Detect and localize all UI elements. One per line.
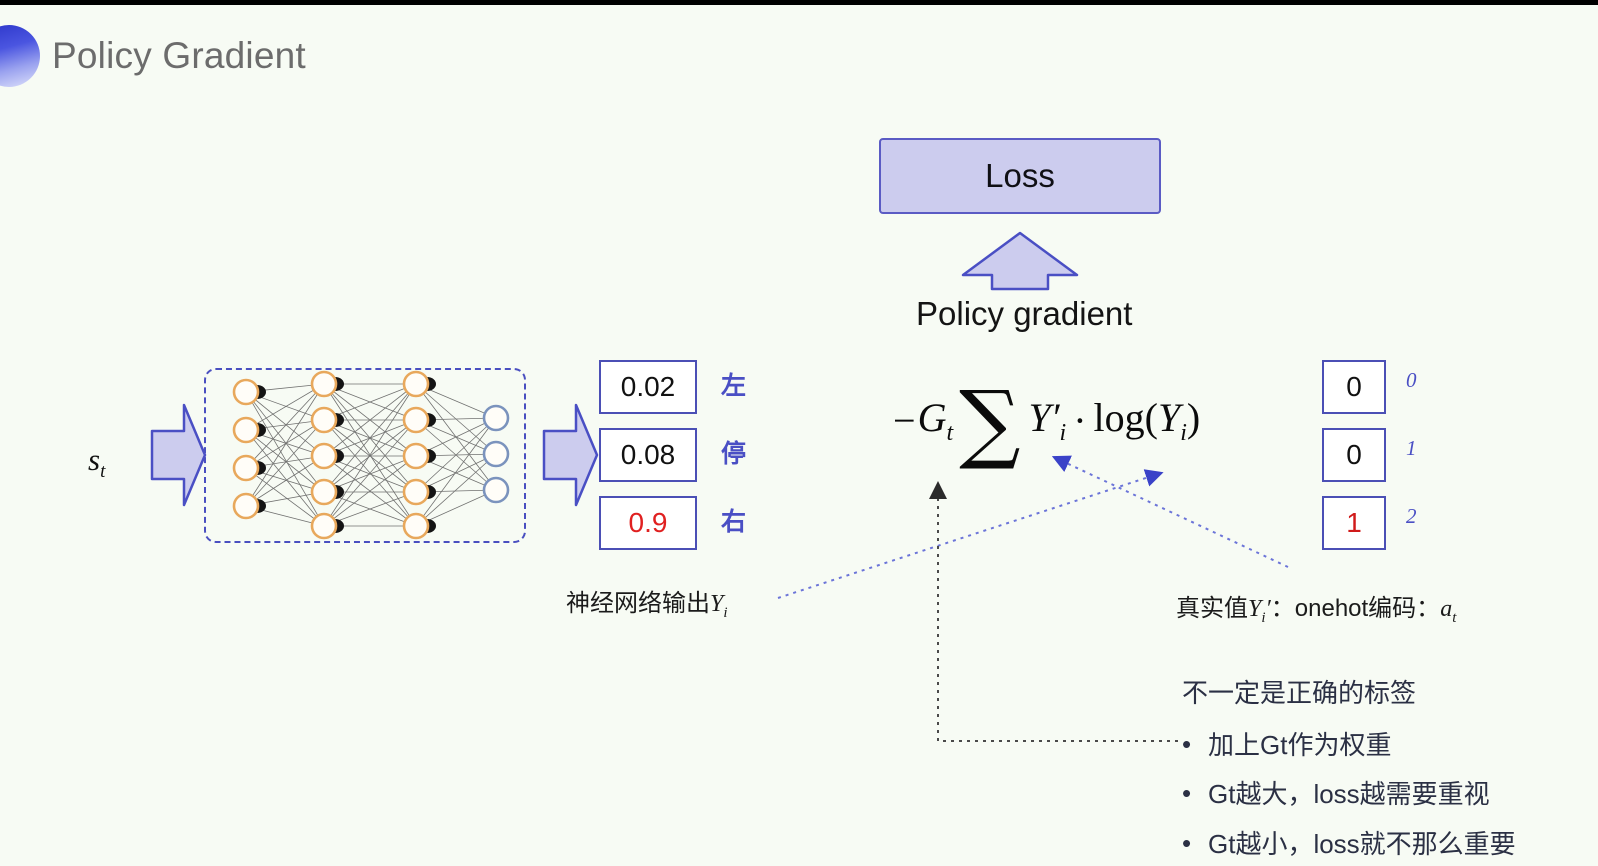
probability-box-1: 0.08 xyxy=(599,428,697,482)
probability-action-label-2: 右 xyxy=(721,502,746,538)
policy-gradient-caption: Policy gradient xyxy=(916,295,1132,333)
output-block-arrow-icon xyxy=(540,403,600,507)
probability-box-2: 0.9 xyxy=(599,496,697,550)
page-title: Policy Gradient xyxy=(52,35,306,77)
onehot-caption: 真实值Yi′：onehot编码：at xyxy=(1176,588,1456,627)
onehot-index-1: 1 xyxy=(1406,436,1417,461)
neural-network-diagram xyxy=(204,368,526,543)
input-block-arrow-icon xyxy=(148,403,208,507)
arrow-onehot-to-yprime xyxy=(1060,460,1288,567)
notes-bullet-0: 加上Gt作为权重 xyxy=(1208,732,1516,759)
loss-box: Loss xyxy=(879,138,1161,214)
state-label: st xyxy=(88,442,105,483)
onehot-box-1: 0 xyxy=(1322,428,1386,482)
onehot-index-0: 0 xyxy=(1406,368,1417,393)
notes-heading: 不一定是正确的标签 xyxy=(1182,673,1516,710)
network-output-caption: 神经网络输出Yi xyxy=(566,583,728,622)
notes-bullet-2: Gt越小，loss就不那么重要 xyxy=(1208,831,1516,858)
probability-box-0: 0.02 xyxy=(599,360,697,414)
probability-action-label-1: 停 xyxy=(721,434,746,470)
slide-canvas: Policy Gradient Loss Policy gradient st xyxy=(0,0,1598,866)
onehot-box-0: 0 xyxy=(1322,360,1386,414)
arrow-notes-to-gt xyxy=(938,490,1178,741)
arrow-output-to-logy xyxy=(778,475,1155,598)
notes-bullet-list: 加上Gt作为权重 Gt越大，loss越需要重视 Gt越小，loss就不那么重要 xyxy=(1182,732,1516,858)
title-bullet-icon xyxy=(0,25,40,87)
notes-block: 不一定是正确的标签 加上Gt作为权重 Gt越大，loss越需要重视 Gt越小，l… xyxy=(1182,673,1516,866)
policy-gradient-up-arrow-icon xyxy=(960,231,1080,291)
loss-formula: − Gt ∑ Y′i · log(Yi) xyxy=(893,390,1200,450)
probability-action-label-0: 左 xyxy=(721,366,746,402)
notes-bullet-1: Gt越大，loss越需要重视 xyxy=(1208,781,1516,808)
onehot-box-2: 1 xyxy=(1322,496,1386,550)
loss-label: Loss xyxy=(985,157,1055,195)
onehot-index-2: 2 xyxy=(1406,504,1417,529)
